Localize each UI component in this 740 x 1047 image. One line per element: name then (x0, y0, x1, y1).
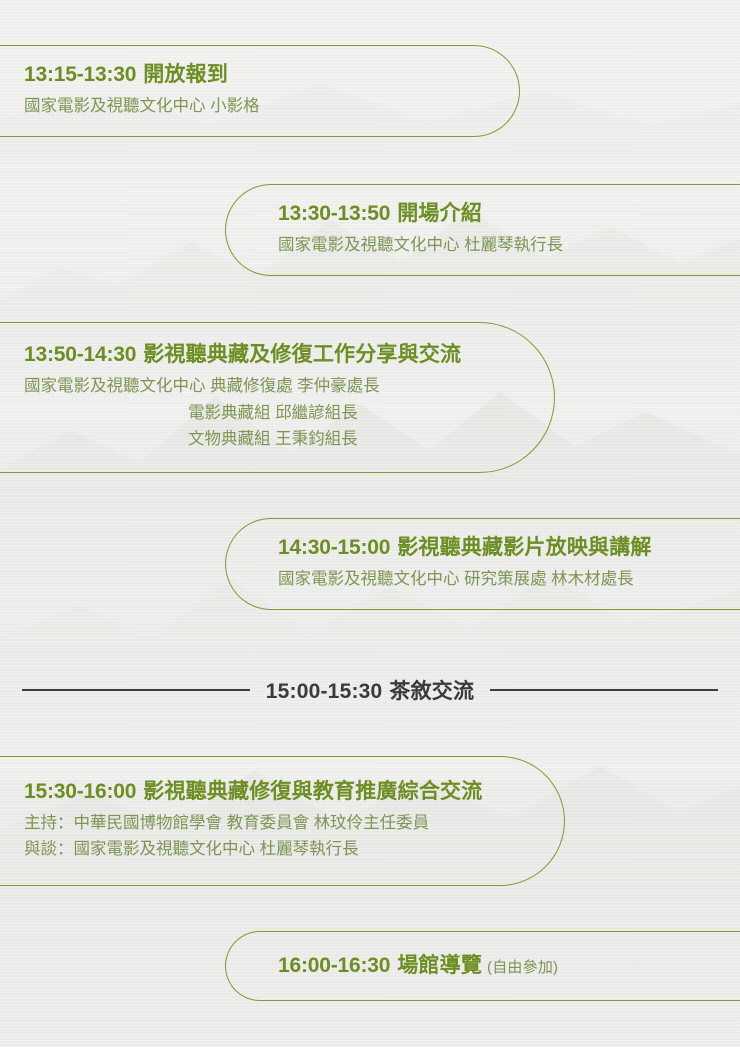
agenda-detail: 國家電影及視聽文化中心 小影格 (24, 93, 493, 120)
agenda-detail: 國家電影及視聽文化中心 典藏修復處 李仲豪處長 (24, 373, 528, 400)
agenda-headline: 13:30-13:50開場介紹 (278, 201, 740, 228)
agenda-row-content: 13:50-14:30影視聽典藏及修復工作分享與交流 國家電影及視聽文化中心 典… (0, 342, 554, 453)
agenda-headline: 13:50-14:30影視聽典藏及修復工作分享與交流 (24, 342, 528, 369)
agenda-time: 14:30-15:00 (278, 536, 390, 559)
agenda-row-opening: 13:30-13:50開場介紹 國家電影及視聽文化中心 杜麗琴執行長 (225, 184, 740, 276)
agenda-headline: 15:00-15:30茶敘交流 (250, 675, 490, 705)
agenda-detail: 主持：中華民國博物館學會 教育委員會 林玟伶主任委員 (24, 810, 538, 837)
agenda-title: 影視聽典藏修復與教育推廣綜合交流 (143, 780, 482, 803)
agenda-time: 15:30-16:00 (24, 780, 136, 803)
agenda-headline: 13:15-13:30開放報到 (24, 62, 493, 89)
agenda-detail: 電影典藏組 邱繼諺組長 (24, 400, 528, 427)
agenda-detail: 國家電影及視聽文化中心 杜麗琴執行長 (278, 232, 740, 259)
agenda-title: 開場介紹 (397, 202, 482, 225)
agenda-row-content: 13:30-13:50開場介紹 國家電影及視聽文化中心 杜麗琴執行長 (226, 201, 740, 259)
agenda-detail: 國家電影及視聽文化中心 研究策展處 林木材處長 (278, 566, 740, 593)
agenda-row-content: 16:00-16:30場館導覽(自由參加) (226, 953, 740, 980)
agenda-row-comprehensive-exchange: 15:30-16:00影視聽典藏修復與教育推廣綜合交流 主持：中華民國博物館學會… (0, 756, 565, 886)
agenda-row-collection-restoration-sharing: 13:50-14:30影視聽典藏及修復工作分享與交流 國家電影及視聽文化中心 典… (0, 322, 555, 473)
agenda-time: 16:00-16:30 (278, 954, 390, 977)
agenda-row-content: 15:30-16:00影視聽典藏修復與教育推廣綜合交流 主持：中華民國博物館學會… (0, 779, 564, 863)
agenda-title: 影視聽典藏影片放映與講解 (397, 536, 651, 559)
agenda-title: 影視聽典藏及修復工作分享與交流 (143, 343, 461, 366)
agenda-headline: 14:30-15:00影視聽典藏影片放映與講解 (278, 535, 740, 562)
agenda-time: 13:30-13:50 (278, 202, 390, 225)
agenda-headline: 15:30-16:00影視聽典藏修復與教育推廣綜合交流 (24, 779, 538, 806)
agenda-time: 13:50-14:30 (24, 343, 136, 366)
agenda-detail: 與談：國家電影及視聽文化中心 杜麗琴執行長 (24, 836, 538, 863)
agenda-title: 場館導覽 (397, 954, 482, 977)
agenda-time: 15:00-15:30 (266, 680, 383, 703)
agenda-title: 茶敘交流 (389, 680, 474, 703)
agenda-note: (自由參加) (487, 959, 558, 976)
agenda-title: 開放報到 (143, 63, 228, 86)
agenda-headline: 16:00-16:30場館導覽(自由參加) (278, 953, 740, 980)
agenda-row-tea-break: 15:00-15:30茶敘交流 (0, 676, 740, 704)
agenda-row-content: 14:30-15:00影視聽典藏影片放映與講解 國家電影及視聽文化中心 研究策展… (226, 535, 740, 593)
divider-left (22, 689, 250, 691)
agenda-page: 13:15-13:30開放報到 國家電影及視聽文化中心 小影格 13:30-13… (0, 0, 740, 1047)
agenda-row-screening-commentary: 14:30-15:00影視聽典藏影片放映與講解 國家電影及視聽文化中心 研究策展… (225, 518, 740, 610)
agenda-row-content: 13:15-13:30開放報到 國家電影及視聽文化中心 小影格 (0, 62, 519, 120)
agenda-row-venue-tour: 16:00-16:30場館導覽(自由參加) (225, 931, 740, 1001)
agenda-row-registration: 13:15-13:30開放報到 國家電影及視聽文化中心 小影格 (0, 45, 520, 137)
agenda-time: 13:15-13:30 (24, 63, 136, 86)
agenda-detail: 文物典藏組 王秉鈞組長 (24, 426, 528, 453)
divider-right (490, 689, 718, 691)
